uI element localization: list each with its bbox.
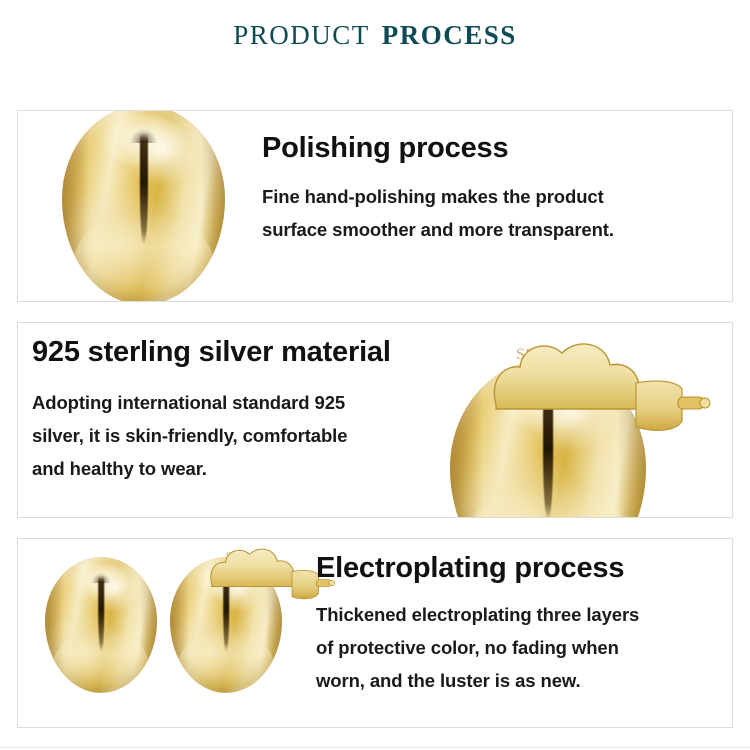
bead-center-seam [98, 576, 104, 652]
earring-image-polishing [62, 110, 225, 302]
card-heading: 925 sterling silver material [32, 337, 391, 367]
bead-left-rim [450, 359, 483, 518]
earring-image-right: S925 [170, 557, 282, 693]
card-body: Thickened electroplating three layers of… [316, 599, 639, 698]
card-body-line: silver, it is skin-friendly, comfortable [32, 420, 391, 453]
feature-card-sterling-silver: 925 sterling silver material Adopting in… [17, 322, 733, 518]
card-body: Adopting international standard 925 silv… [32, 387, 391, 486]
card-text-electroplating: Electroplating process Thickened electro… [316, 553, 639, 698]
card-heading: Electroplating process [316, 553, 639, 583]
page-title-process: PROCESS [382, 20, 517, 50]
card-body: Fine hand-polishing makes the product su… [262, 181, 614, 247]
product-process-infographic: PRODUCTPROCESS Polishing process Fine ha… [0, 0, 750, 750]
gold-bead-icon [62, 110, 225, 302]
butterfly-back-svg [486, 335, 716, 443]
page-bottom-divider [0, 747, 750, 748]
card-body-line: surface smoother and more transparent. [262, 214, 614, 247]
butterfly-back-icon [486, 335, 716, 443]
page-title-product: PRODUCT [233, 20, 370, 50]
card-body-line: of protective color, no fading when [316, 632, 639, 665]
card-text-polishing: Polishing process Fine hand-polishing ma… [262, 133, 614, 247]
earring-image-sterling-silver: S925 [450, 359, 646, 518]
card-text-sterling-silver: 925 sterling silver material Adopting in… [32, 337, 391, 486]
card-body-line: Fine hand-polishing makes the product [262, 181, 614, 214]
card-body-line: Thickened electroplating three layers [316, 599, 639, 632]
feature-card-polishing: Polishing process Fine hand-polishing ma… [17, 110, 733, 302]
feature-card-electroplating: S925 Electroplating process Thickened el… [17, 538, 733, 728]
page-title: PRODUCTPROCESS [0, 20, 750, 51]
card-body-line: worn, and the luster is as new. [316, 665, 639, 698]
card-body-line: and healthy to wear. [32, 453, 391, 486]
card-heading: Polishing process [262, 133, 614, 163]
gold-bead-icon [45, 557, 157, 693]
earring-image-left [45, 557, 157, 693]
card-body-line: Adopting international standard 925 [32, 387, 391, 420]
